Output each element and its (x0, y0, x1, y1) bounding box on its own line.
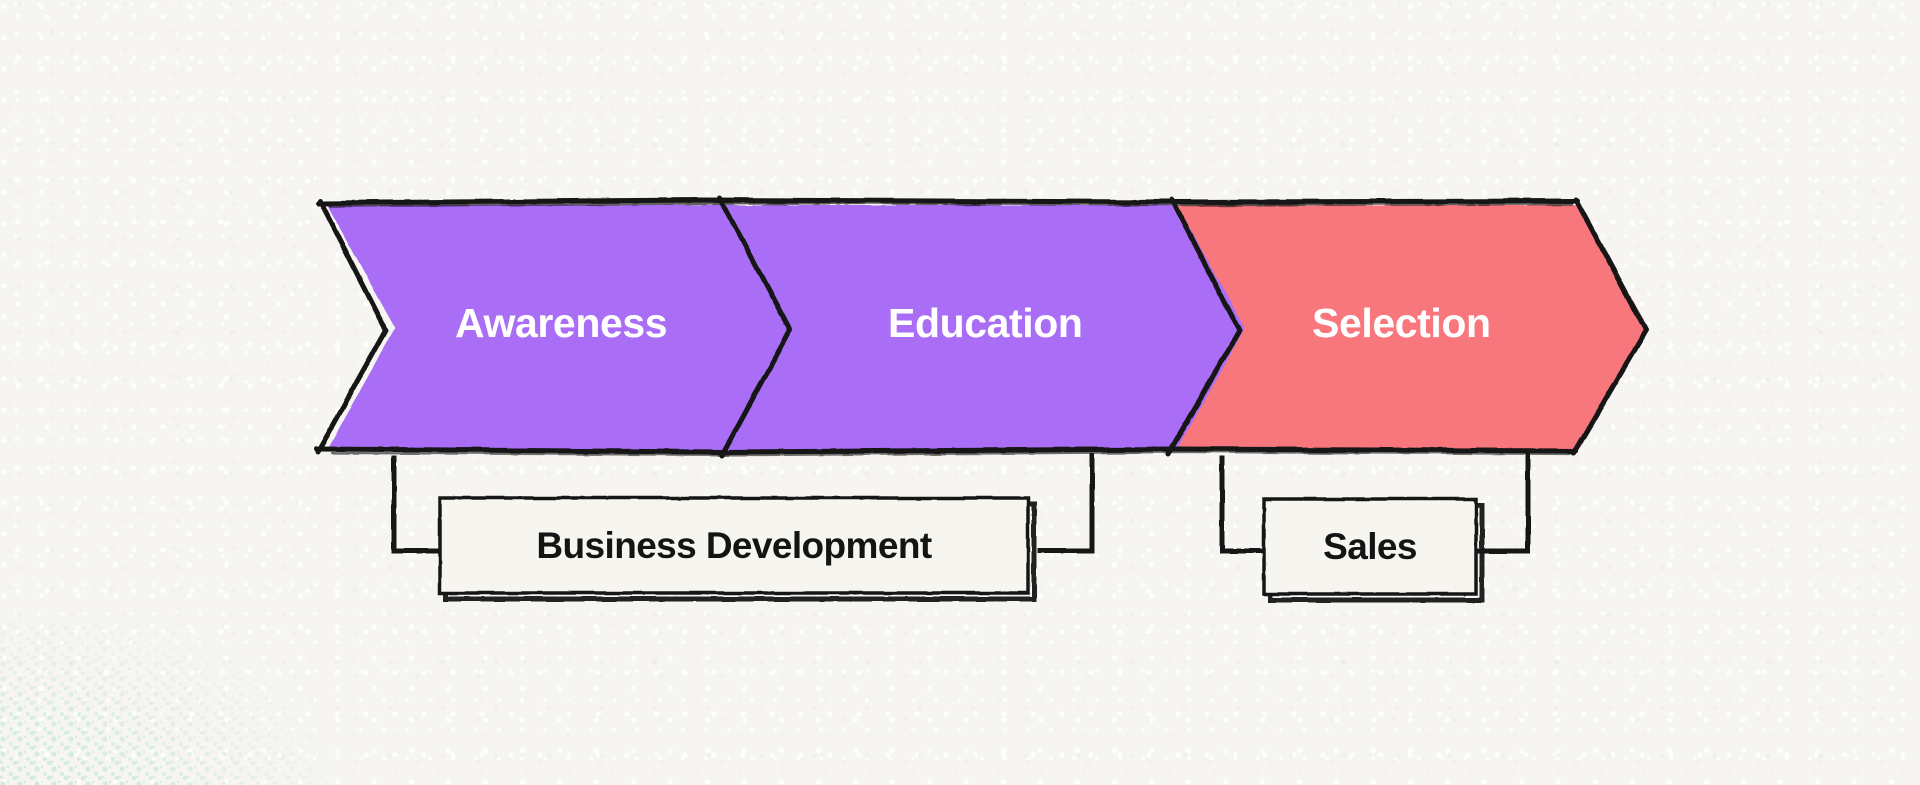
bracket-sales-right (1478, 456, 1528, 551)
grouping-label-sales: Sales (1264, 499, 1476, 594)
funnel-diagram: Awareness Education Selection Business D… (0, 0, 1920, 785)
bracket-bizdev-left (394, 458, 444, 551)
bracket-sales-left (1222, 458, 1262, 551)
bracket-bizdev-right (1040, 456, 1092, 551)
grouping-label-business-development: Business Development (440, 498, 1028, 593)
grouping-connectors-layer (0, 0, 1920, 785)
